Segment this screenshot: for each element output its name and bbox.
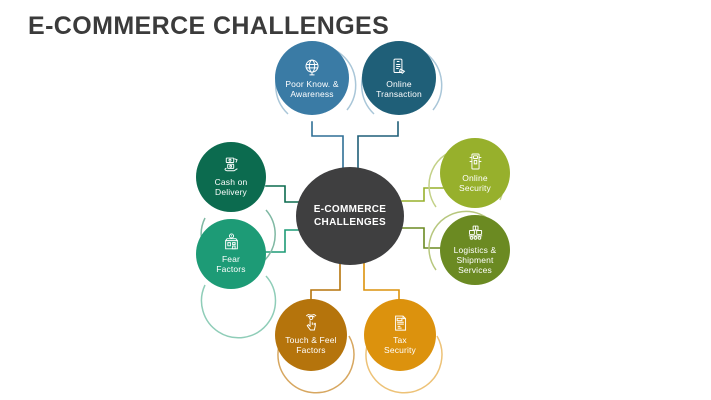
padlock-icon xyxy=(466,152,485,171)
connector-cash-on-delivery xyxy=(266,186,299,202)
node-online-transaction[interactable]: Online Transaction xyxy=(362,41,436,115)
node-label: Cash on Delivery xyxy=(211,178,252,198)
tax-document-icon xyxy=(391,314,410,333)
slide-canvas: E-COMMERCE CHALLENGES xyxy=(0,0,711,400)
store-warning-icon xyxy=(222,233,241,252)
hand-touch-icon xyxy=(302,314,321,333)
node-label: Online Security xyxy=(455,174,495,194)
node-logistics-shipment-services[interactable]: Logistics & Shipment Services xyxy=(440,215,510,285)
connector-online-transaction xyxy=(358,122,398,170)
connector-logistics xyxy=(402,228,443,248)
node-label: Poor Know. & Awareness xyxy=(281,80,342,100)
page-title: E-COMMERCE CHALLENGES xyxy=(28,12,389,41)
mobile-payment-icon xyxy=(389,57,409,77)
node-label: Logistics & Shipment Services xyxy=(450,246,501,276)
globe-icon xyxy=(302,57,322,77)
node-label: Touch & Feel Factors xyxy=(281,336,340,356)
node-label: Online Transaction xyxy=(372,80,426,100)
connector-fear-factors xyxy=(266,230,299,252)
center-hub[interactable]: E-COMMERCE CHALLENGES xyxy=(296,167,404,265)
node-fear-factors[interactable]: Fear Factors xyxy=(196,219,266,289)
node-label: Tax Security xyxy=(380,336,420,356)
node-touch-and-feel-factors[interactable]: Touch & Feel Factors xyxy=(275,299,347,371)
node-cash-on-delivery[interactable]: Cash on Delivery xyxy=(196,142,266,212)
node-online-security[interactable]: Online Security xyxy=(440,138,510,208)
connector-online-security xyxy=(402,188,443,201)
node-label: Fear Factors xyxy=(212,255,249,275)
delivery-truck-icon xyxy=(466,224,485,243)
node-tax-security[interactable]: Tax Security xyxy=(364,299,436,371)
connector-poor-knowledge xyxy=(312,122,343,170)
cash-hand-icon xyxy=(222,156,241,175)
node-poor-knowledge-awareness[interactable]: Poor Know. & Awareness xyxy=(275,41,349,115)
